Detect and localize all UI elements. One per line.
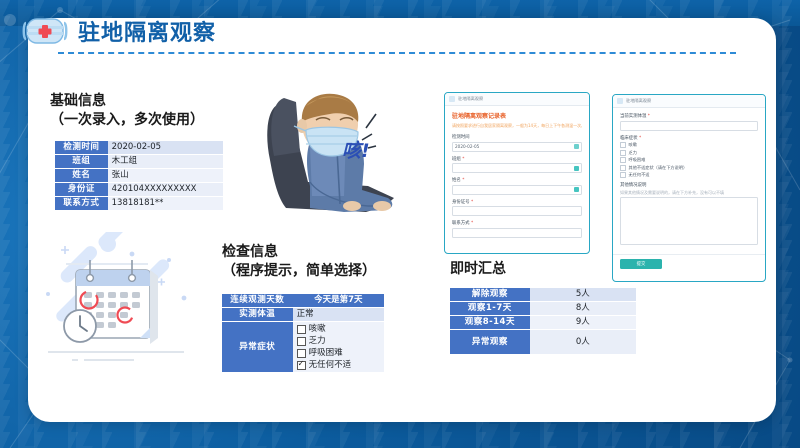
cough-text: 咳! — [342, 136, 370, 163]
dropdown-icon[interactable] — [574, 166, 579, 171]
required-marker: * — [461, 178, 465, 183]
row-label: 身份证 — [55, 183, 108, 197]
table-row: 连续观测天数 今天是第7天 — [222, 294, 384, 308]
row-label: 姓名 — [55, 169, 108, 183]
row-label: 联系方式 — [55, 197, 108, 211]
checkbox-icon[interactable] — [620, 150, 626, 156]
observation-days-value: 今天是第7天 — [293, 294, 384, 308]
field-team[interactable]: 班组 * — [452, 156, 582, 174]
select-input[interactable] — [452, 163, 582, 173]
field-label: 身份证号 * — [452, 199, 582, 205]
nav-title: 驻地隔离观察 — [626, 98, 651, 104]
face-mask-icon — [22, 14, 68, 48]
symptom-label: 乏力 — [309, 335, 326, 347]
checkbox-option[interactable]: 无任何不适 — [620, 172, 758, 178]
table-row: 实测体温 正常 — [222, 308, 384, 322]
row-label: 班组 — [55, 155, 108, 169]
field-id-number[interactable]: 身份证号 * — [452, 199, 582, 217]
text-input[interactable] — [452, 228, 582, 238]
row-value: 2020-02-05 — [108, 141, 223, 155]
table-row: 异常症状 咳嗽 乏力 呼吸困难 无任何不适 — [222, 322, 384, 373]
checkbox-icon[interactable] — [297, 337, 306, 346]
required-marker: * — [461, 157, 465, 162]
checkbox-option[interactable]: 呼吸困难 — [620, 157, 758, 163]
table-row: 观察1-7天8人 — [450, 302, 636, 316]
field-clinical-symptoms: 临床症状 * 咳嗽 乏力 呼吸困难 其他不适症状（请在下方说明） 无任何不适 — [620, 135, 758, 179]
checkbox-option[interactable]: 咳嗽 — [620, 142, 758, 148]
basic-info-heading: 基础信息 （一次录入，多次使用） — [50, 92, 204, 130]
checkbox-checked-icon[interactable] — [297, 361, 306, 370]
temperature-label: 实测体温 — [222, 308, 293, 322]
registration-form-screenshot[interactable]: 驻地隔离观察 驻地隔离观察记录表 请按照要求进行自我居家隔离观察，一般为14天，… — [444, 92, 590, 254]
submit-button[interactable]: 提交 — [620, 259, 662, 269]
checkbox-icon[interactable] — [620, 157, 626, 163]
checkbox-icon[interactable] — [620, 172, 626, 178]
row-label: 检测时间 — [55, 141, 108, 155]
masked-person-illustration — [248, 86, 408, 232]
required-marker: * — [646, 114, 650, 119]
table-row: 检测时间2020-02-05 — [55, 141, 223, 155]
symptom-label: 无任何不适 — [309, 359, 352, 371]
temperature-value: 正常 — [293, 308, 384, 322]
check-info-heading: 检查信息 （程序提示，简单选择） — [222, 243, 376, 281]
option-label: 乏力 — [629, 150, 637, 156]
row-label: 观察8-14天 — [450, 316, 530, 330]
text-input[interactable] — [452, 206, 582, 216]
slide-root: 驻地隔离观察 基础信息 （一次录入，多次使用） 检测时间2020-02-05 班… — [0, 0, 800, 448]
summary-heading: 即时汇总 — [450, 258, 506, 278]
slide-header: 驻地隔离观察 — [22, 14, 216, 48]
symptom-form-screenshot[interactable]: 驻地隔离观察 当前实测体温 * 临床症状 * 咳嗽 乏力 呼吸困难 其他不适症状… — [612, 94, 766, 282]
symptoms-label: 异常症状 — [222, 322, 293, 373]
calendar-clock-illustration — [36, 232, 208, 382]
row-value: 0人 — [530, 330, 636, 355]
list-item[interactable]: 呼吸困难 — [297, 347, 380, 359]
field-label: 检测时间 — [452, 134, 582, 140]
form-title: 驻地隔离观察记录表 — [452, 111, 582, 120]
required-marker: * — [470, 200, 474, 205]
back-arrow-icon[interactable] — [449, 96, 455, 102]
required-marker: * — [470, 221, 474, 226]
row-label: 异常观察 — [450, 330, 530, 355]
back-arrow-icon[interactable] — [617, 98, 623, 104]
date-input[interactable]: 2020-02-05 — [452, 142, 582, 152]
phone-nav-bar: 驻地隔离观察 — [445, 93, 589, 106]
checkbox-option[interactable]: 乏力 — [620, 150, 758, 156]
list-item[interactable]: 乏力 — [297, 335, 380, 347]
nav-title: 驻地隔离观察 — [458, 96, 483, 102]
symptoms-cell: 咳嗽 乏力 呼吸困难 无任何不适 — [293, 322, 384, 373]
option-label: 咳嗽 — [629, 142, 637, 148]
field-value: 2020-02-05 — [455, 144, 479, 149]
basic-info-tbody: 检测时间2020-02-05 班组木工组 姓名张山 身份证420104XXXXX… — [55, 141, 223, 211]
row-value: 9人 — [530, 316, 636, 330]
symptom-checkbox-list: 咳嗽 乏力 呼吸困难 无任何不适 — [297, 323, 380, 371]
notes-textarea[interactable] — [620, 197, 758, 245]
row-value: 张山 — [108, 169, 223, 183]
required-marker: * — [638, 136, 642, 141]
option-label: 呼吸困难 — [629, 157, 646, 163]
form-footer: 提交 — [613, 254, 765, 273]
check-info-table: 连续观测天数 今天是第7天 实测体温 正常 异常症状 咳嗽 乏力 呼吸困难 无任… — [222, 294, 384, 373]
field-detect-time[interactable]: 检测时间 2020-02-05 — [452, 134, 582, 152]
page-title: 驻地隔离观察 — [78, 15, 216, 47]
table-row: 班组木工组 — [55, 155, 223, 169]
checkbox-icon[interactable] — [297, 349, 306, 358]
row-label: 解除观察 — [450, 288, 530, 302]
checkbox-icon[interactable] — [620, 165, 626, 171]
observation-days-label: 连续观测天数 — [222, 294, 293, 308]
field-other-notes[interactable]: 其他情况说明 如果其他情况及需要说明的，请在下方补充，没有可以不填 — [620, 182, 758, 245]
symptom-label: 呼吸困难 — [309, 347, 343, 359]
symptom-label: 咳嗽 — [309, 323, 326, 335]
dropdown-icon[interactable] — [574, 187, 579, 192]
row-value: 13818181** — [108, 197, 223, 211]
option-label: 其他不适症状（请在下方说明） — [629, 165, 688, 171]
row-value: 8人 — [530, 302, 636, 316]
table-row: 解除观察5人 — [450, 288, 636, 302]
table-row: 联系方式13818181** — [55, 197, 223, 211]
summary-table: 解除观察5人 观察1-7天8人 观察8-14天9人 异常观察0人 — [450, 288, 636, 355]
checkbox-icon[interactable] — [297, 325, 306, 334]
list-item[interactable]: 咳嗽 — [297, 323, 380, 335]
field-contact[interactable]: 联系方式 * — [452, 220, 582, 238]
form-body: 当前实测体温 * 临床症状 * 咳嗽 乏力 呼吸困难 其他不适症状（请在下方说明… — [613, 108, 765, 254]
table-row: 观察8-14天9人 — [450, 316, 636, 330]
field-name[interactable]: 姓名 * — [452, 177, 582, 195]
header-divider — [58, 52, 736, 54]
checkbox-icon[interactable] — [620, 142, 626, 148]
text-input[interactable] — [620, 121, 758, 131]
row-value: 420104XXXXXXXXX — [108, 183, 223, 197]
field-label: 当前实测体温 * — [620, 113, 758, 119]
basic-info-table: 检测时间2020-02-05 班组木工组 姓名张山 身份证420104XXXXX… — [55, 141, 223, 211]
form-body: 驻地隔离观察记录表 请按照要求进行自我居家隔离观察，一般为14天，每日上下午各测… — [445, 106, 589, 247]
row-value: 5人 — [530, 288, 636, 302]
calendar-icon[interactable] — [574, 144, 579, 149]
field-label: 班组 * — [452, 156, 582, 162]
row-value: 木工组 — [108, 155, 223, 169]
select-input[interactable] — [452, 185, 582, 195]
checkbox-option[interactable]: 其他不适症状（请在下方说明） — [620, 165, 758, 171]
row-label: 观察1-7天 — [450, 302, 530, 316]
table-row: 身份证420104XXXXXXXXX — [55, 183, 223, 197]
field-hint: 如果其他情况及需要说明的，请在下方补充，没有可以不填 — [620, 190, 758, 195]
field-label: 联系方式 * — [452, 220, 582, 226]
table-row: 异常观察0人 — [450, 330, 636, 355]
phone-nav-bar: 驻地隔离观察 — [613, 95, 765, 108]
field-current-temperature[interactable]: 当前实测体温 * — [620, 113, 758, 131]
list-item[interactable]: 无任何不适 — [297, 359, 380, 371]
table-row: 姓名张山 — [55, 169, 223, 183]
field-label: 临床症状 * — [620, 135, 758, 141]
field-label: 其他情况说明 — [620, 182, 758, 188]
field-label: 姓名 * — [452, 177, 582, 183]
option-label: 无任何不适 — [629, 172, 650, 178]
form-note: 请按照要求进行自我居家隔离观察，一般为14天，每日上下午各测温一次。 — [452, 123, 582, 129]
